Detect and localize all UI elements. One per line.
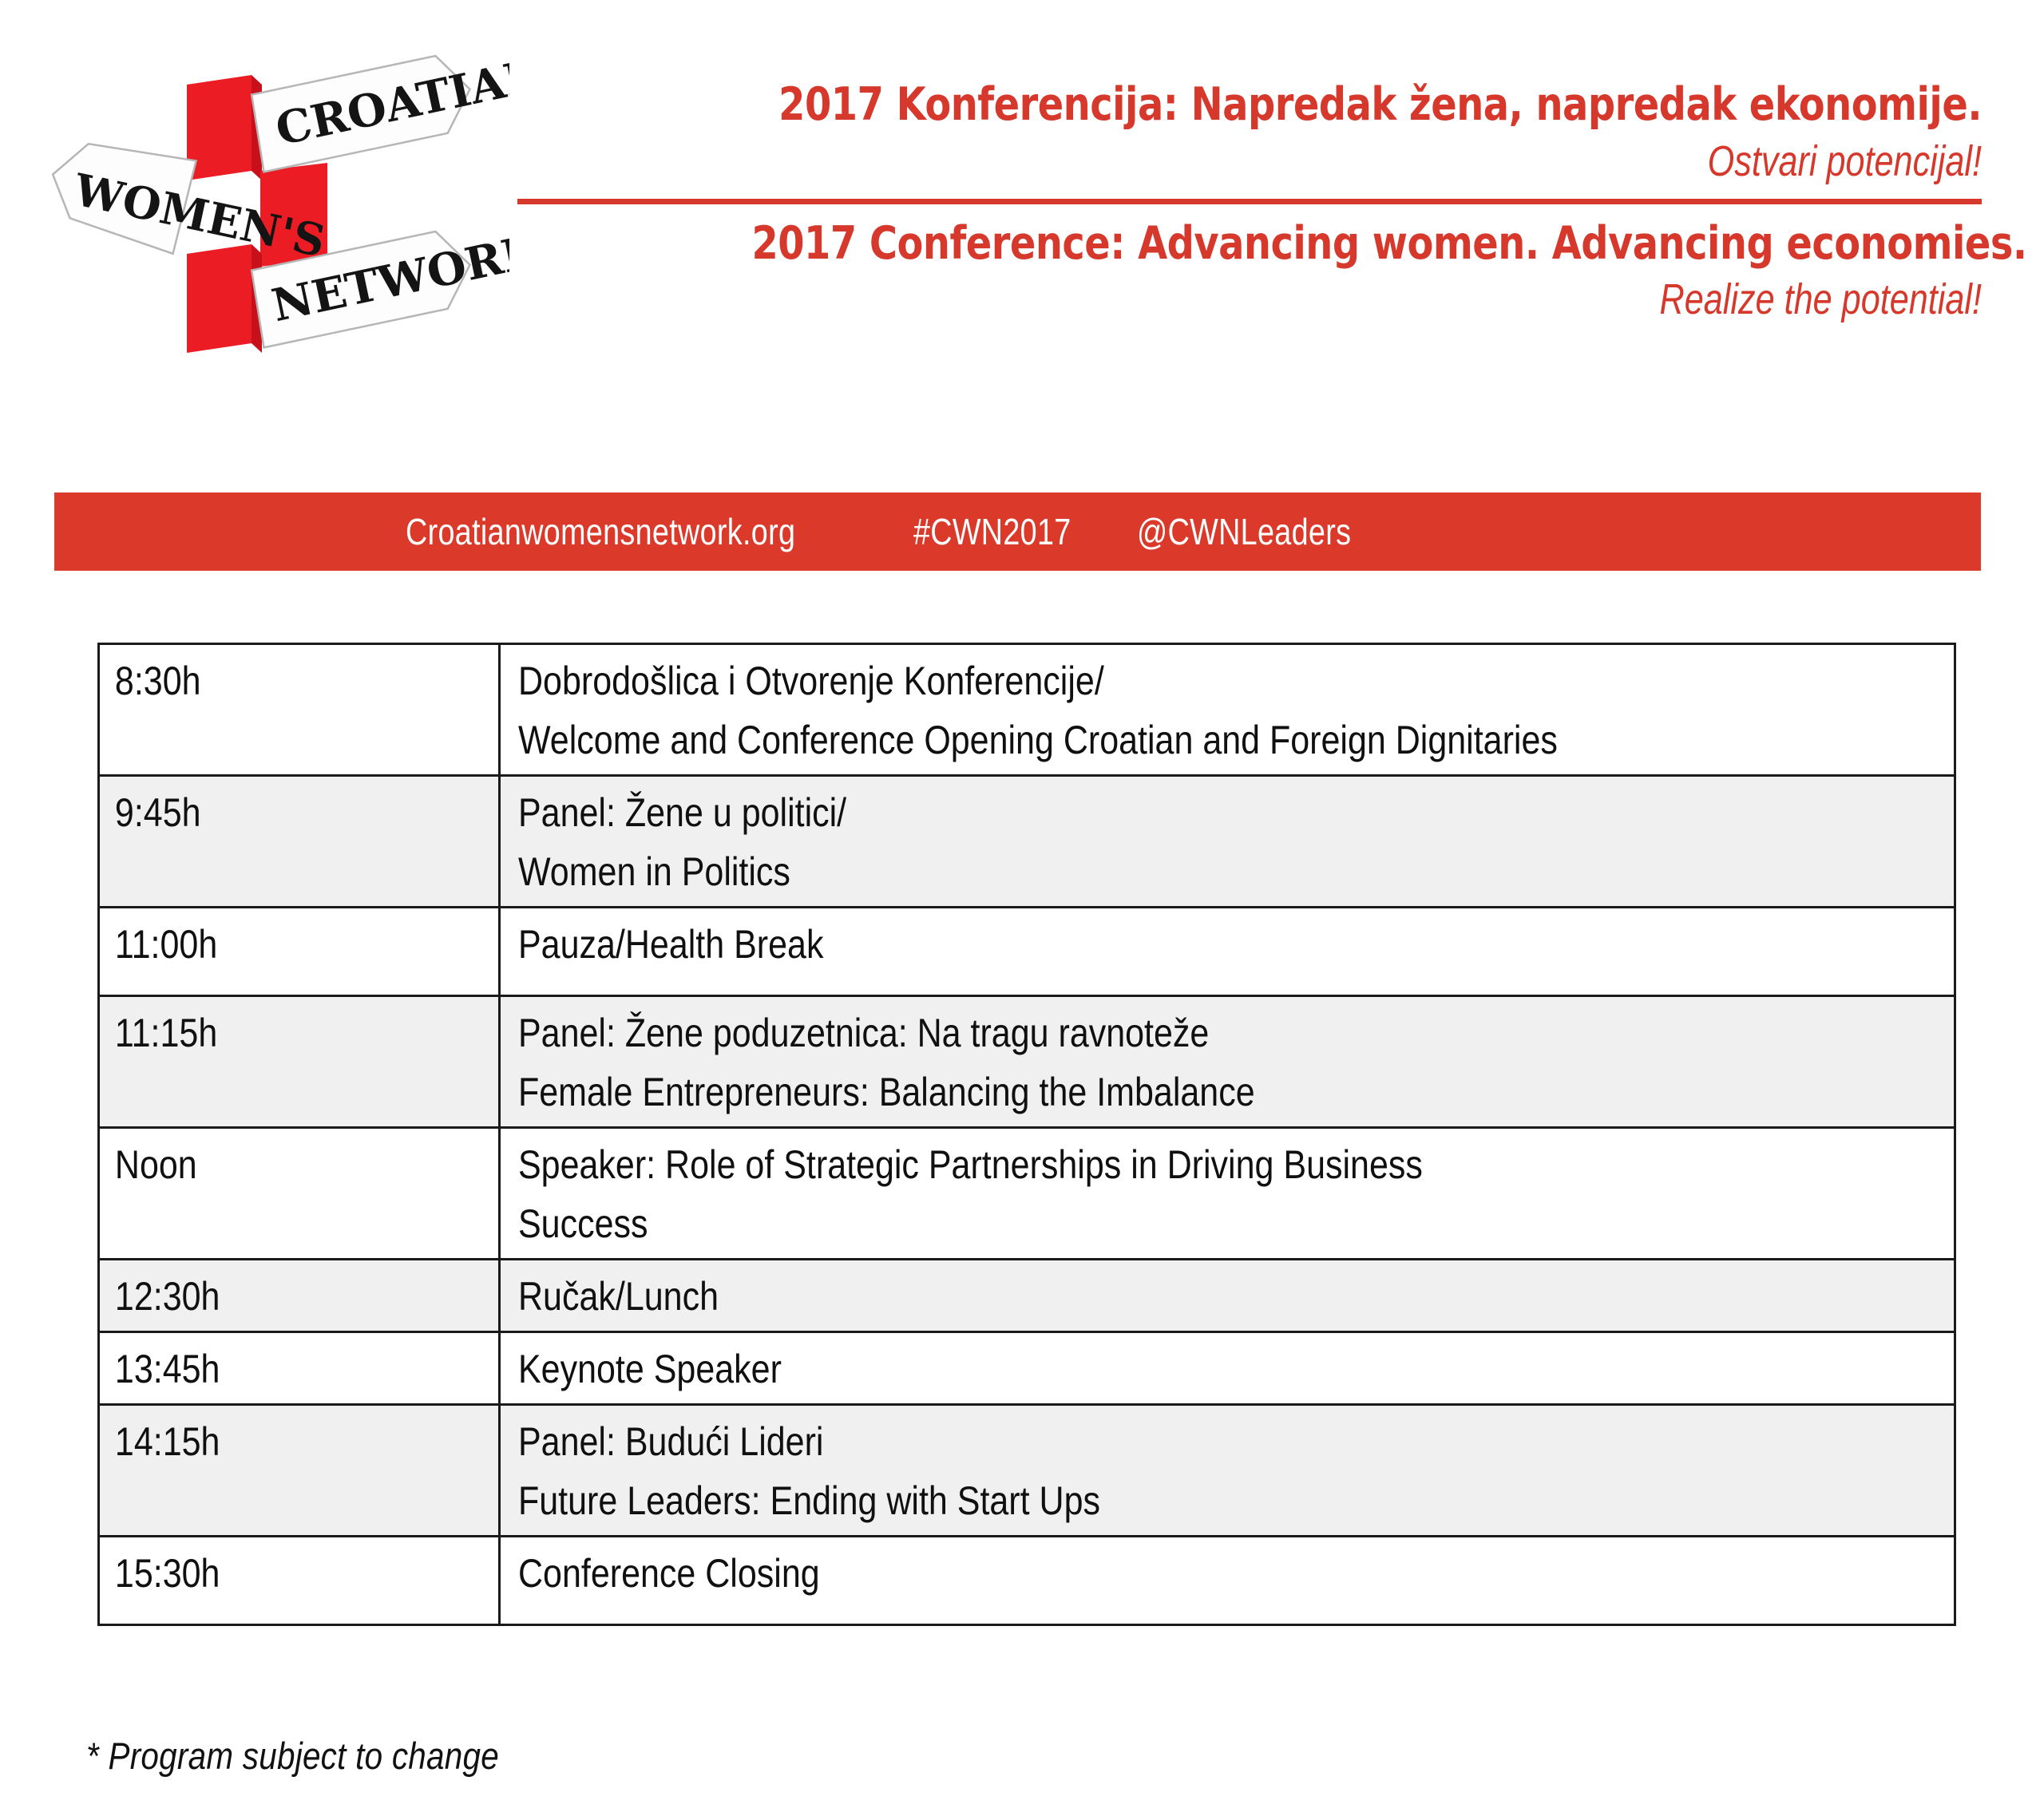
schedule-time: 15:30h — [100, 1537, 442, 1596]
table-row: 9:45h Panel: Žene u politici/ Women in P… — [99, 776, 1955, 908]
program-disclaimer: * Program subject to change — [86, 1734, 499, 1778]
schedule-description-line: Future Leaders: Ending with Start Ups — [518, 1478, 1753, 1524]
schedule-description-cell: Panel: Žene poduzetnica: Na tragu ravnot… — [500, 996, 1955, 1128]
title-divider — [517, 199, 1982, 204]
schedule-description: Conference Closing — [501, 1537, 1954, 1608]
schedule-time: 11:15h — [100, 997, 442, 1056]
conference-title-croatian: 2017 Konferencija: Napredak žena, napred… — [751, 80, 1982, 131]
table-row: 11:00h Pauza/Health Break — [99, 908, 1955, 996]
schedule-time: 12:30h — [100, 1260, 442, 1319]
schedule-time: Noon — [100, 1129, 442, 1188]
contact-banner-items: Croatianwomensnetwork.org #CWN2017 @CWNL… — [406, 510, 1399, 553]
header-titles: 2017 Konferencija: Napredak žena, napred… — [517, 80, 1982, 326]
schedule-description: Panel: Budući Lideri Future Leaders: End… — [501, 1406, 1954, 1535]
schedule-time-cell: 9:45h — [99, 776, 500, 908]
schedule-description-cell: Conference Closing — [500, 1537, 1955, 1625]
table-row: 12:30h Ručak/Lunch — [99, 1260, 1955, 1332]
schedule-description-line: Ručak/Lunch — [518, 1273, 1753, 1319]
logo-sign-croatian: CROATIAN — [250, 39, 509, 172]
table-row: 13:45h Keynote Speaker — [99, 1332, 1955, 1405]
schedule-time-cell: 12:30h — [99, 1260, 500, 1332]
table-row: 14:15h Panel: Budući Lideri Future Leade… — [99, 1405, 1955, 1537]
organization-logo: CROATIAN WOMEN'S NETWORK — [30, 14, 509, 398]
schedule-description-cell: Panel: Žene u politici/ Women in Politic… — [500, 776, 1955, 908]
schedule-time: 8:30h — [100, 645, 442, 704]
contact-banner: Croatianwomensnetwork.org #CWN2017 @CWNL… — [54, 493, 1981, 571]
schedule-description-cell: Speaker: Role of Strategic Partnerships … — [500, 1128, 1955, 1260]
schedule-description: Speaker: Role of Strategic Partnerships … — [501, 1129, 1954, 1258]
schedule-description-line: Women in Politics — [518, 849, 1753, 895]
schedule-description: Panel: Žene poduzetnica: Na tragu ravnot… — [501, 997, 1954, 1126]
hashtag-label[interactable]: #CWN2017 — [913, 510, 1071, 553]
conference-schedule-table: 8:30h Dobrodošlica i Otvorenje Konferenc… — [97, 643, 1956, 1626]
table-row: 8:30h Dobrodošlica i Otvorenje Konferenc… — [99, 644, 1955, 776]
schedule-time: 13:45h — [100, 1333, 442, 1392]
schedule-description-cell: Keynote Speaker — [500, 1332, 1955, 1405]
website-link[interactable]: Croatianwomensnetwork.org — [406, 510, 795, 553]
schedule-time: 9:45h — [100, 777, 442, 836]
table-row: 11:15h Panel: Žene poduzetnica: Na tragu… — [99, 996, 1955, 1128]
schedule-description-line: Pauza/Health Break — [518, 921, 1753, 967]
schedule-time-cell: 15:30h — [99, 1537, 500, 1625]
schedule-time-cell: 11:00h — [99, 908, 500, 996]
schedule-description-cell: Ručak/Lunch — [500, 1260, 1955, 1332]
schedule-time: 11:00h — [100, 908, 442, 967]
schedule-description-line: Conference Closing — [518, 1550, 1753, 1596]
schedule-description-line: Success — [518, 1201, 1753, 1247]
schedule-description: Panel: Žene u politici/ Women in Politic… — [501, 777, 1954, 906]
schedule-description-cell: Panel: Budući Lideri Future Leaders: End… — [500, 1405, 1955, 1537]
conference-title-english: 2017 Conference: Advancing women. Advanc… — [751, 219, 1982, 270]
schedule-description-line: Welcome and Conference Opening Croatian … — [518, 717, 1753, 763]
schedule-time-cell: 14:15h — [99, 1405, 500, 1537]
schedule-description-line: Panel: Žene poduzetnica: Na tragu ravnot… — [518, 1010, 1753, 1056]
schedule-description-cell: Dobrodošlica i Otvorenje Konferencije/ W… — [500, 644, 1955, 776]
table-row: 15:30h Conference Closing — [99, 1537, 1955, 1625]
schedule-time-cell: 8:30h — [99, 644, 500, 776]
schedule-description: Ručak/Lunch — [501, 1260, 1954, 1331]
table-row: Noon Speaker: Role of Strategic Partners… — [99, 1128, 1955, 1260]
schedule-description-line: Panel: Budući Lideri — [518, 1418, 1753, 1465]
social-handle-label[interactable]: @CWNLeaders — [1137, 510, 1351, 553]
schedule-description: Keynote Speaker — [501, 1333, 1954, 1403]
conference-tagline-english: Realize the potential! — [810, 274, 1982, 326]
schedule-description-line: Dobrodošlica i Otvorenje Konferencije/ — [518, 658, 1753, 704]
schedule-description-cell: Pauza/Health Break — [500, 908, 1955, 996]
signpost-logo-icon: CROATIAN WOMEN'S NETWORK — [30, 14, 509, 398]
schedule-time-cell: 11:15h — [99, 996, 500, 1128]
schedule-description-line: Female Entrepreneurs: Balancing the Imba… — [518, 1069, 1753, 1115]
schedule-description-line: Speaker: Role of Strategic Partnerships … — [518, 1141, 1753, 1188]
schedule-body: 8:30h Dobrodošlica i Otvorenje Konferenc… — [99, 644, 1955, 1625]
schedule-description-line: Keynote Speaker — [518, 1346, 1753, 1392]
schedule-description: Dobrodošlica i Otvorenje Konferencije/ W… — [501, 645, 1954, 774]
schedule-time-cell: Noon — [99, 1128, 500, 1260]
schedule-time: 14:15h — [100, 1406, 442, 1465]
conference-tagline-croatian: Ostvari potencijal! — [810, 136, 1982, 188]
schedule-description: Pauza/Health Break — [501, 908, 1954, 979]
page-header: CROATIAN WOMEN'S NETWORK 2017 Konferenci… — [0, 0, 2036, 415]
schedule-description-line: Panel: Žene u politici/ — [518, 789, 1753, 836]
schedule-time-cell: 13:45h — [99, 1332, 500, 1405]
